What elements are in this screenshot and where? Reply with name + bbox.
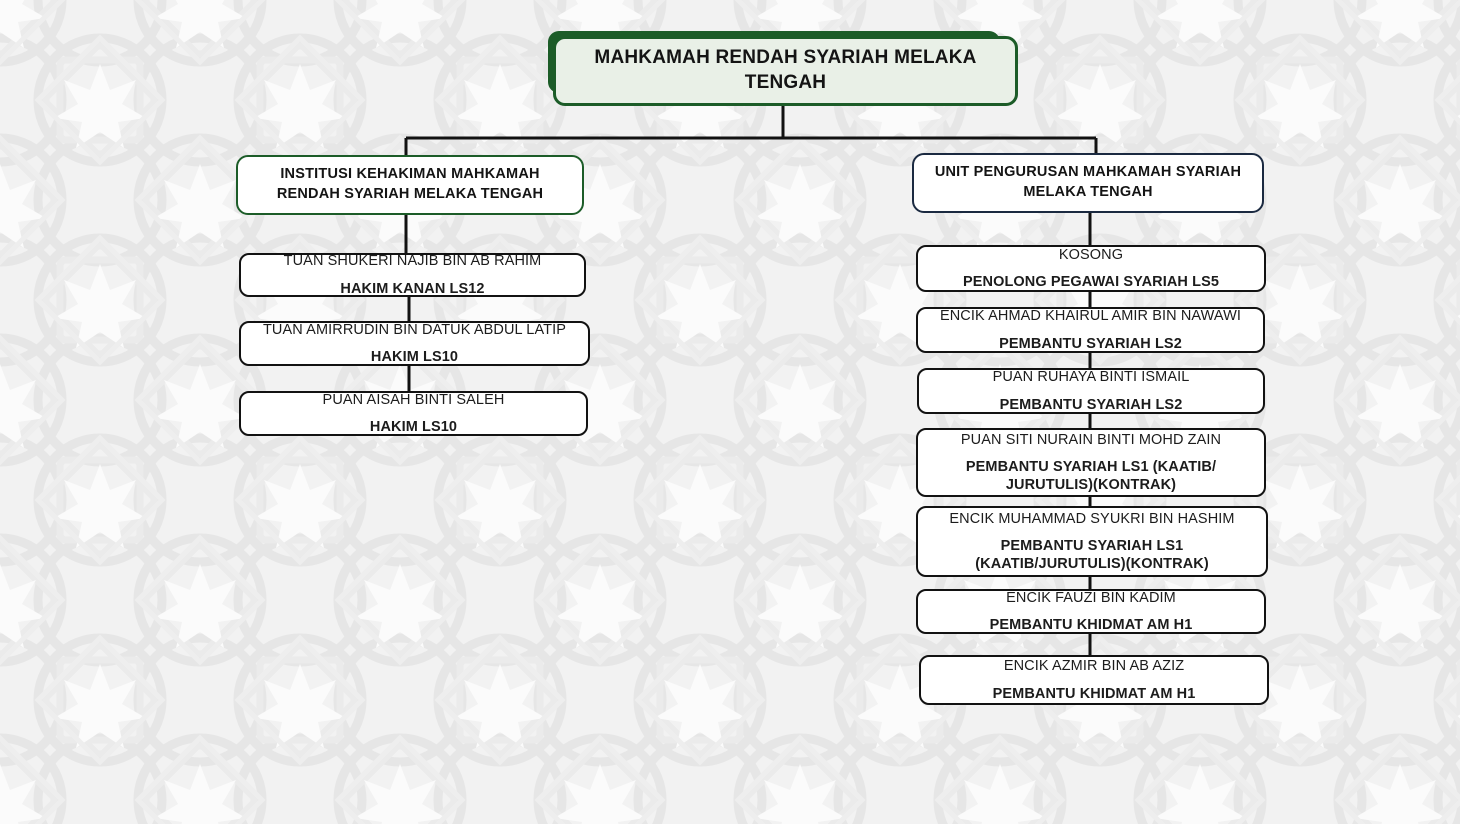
node-right-6[interactable]: ENCIK AZMIR BIN AB AZIZ PEMBANTU KHIDMAT… (919, 655, 1269, 705)
node-right-4[interactable]: ENCIK MUHAMMAD SYUKRI BIN HASHIM PEMBANT… (916, 506, 1268, 577)
org-chart: MAHKAMAH RENDAH SYARIAH MELAKA TENGAH IN… (0, 0, 1460, 824)
node-person: PUAN RUHAYA BINTI ISMAIL (993, 368, 1190, 386)
node-position: PEMBANTU SYARIAH LS2 (999, 335, 1182, 353)
node-right-0[interactable]: KOSONG PENOLONG PEGAWAI SYARIAH LS5 (916, 245, 1266, 292)
node-person: ENCIK AZMIR BIN AB AZIZ (1004, 657, 1184, 675)
branch-left-header[interactable]: INSTITUSI KEHAKIMAN MAHKAMAH RENDAH SYAR… (236, 155, 584, 215)
branch-left-header-title: INSTITUSI KEHAKIMAN MAHKAMAH RENDAH SYAR… (256, 165, 564, 204)
node-position: HAKIM KANAN LS12 (340, 280, 484, 298)
node-person: KOSONG (1059, 246, 1123, 264)
root-node-title: MAHKAMAH RENDAH SYARIAH MELAKA TENGAH (578, 46, 993, 95)
node-position: PENOLONG PEGAWAI SYARIAH LS5 (963, 273, 1219, 291)
node-position: PEMBANTU KHIDMAT AM H1 (990, 616, 1193, 634)
node-left-2[interactable]: PUAN AISAH BINTI SALEH HAKIM LS10 (239, 391, 588, 436)
node-person: PUAN SITI NURAIN BINTI MOHD ZAIN (961, 431, 1221, 449)
node-left-1[interactable]: TUAN AMIRRUDIN BIN DATUK ABDUL LATIP HAK… (239, 321, 590, 366)
branch-right-header[interactable]: UNIT PENGURUSAN MAHKAMAH SYARIAH MELAKA … (912, 153, 1264, 213)
node-position: PEMBANTU KHIDMAT AM H1 (993, 685, 1196, 703)
node-person: ENCIK AHMAD KHAIRUL AMIR BIN NAWAWI (940, 307, 1241, 325)
node-person: PUAN AISAH BINTI SALEH (323, 391, 505, 409)
node-left-0[interactable]: TUAN SHUKERI NAJIB BIN AB RAHIM HAKIM KA… (239, 253, 586, 297)
node-person: TUAN AMIRRUDIN BIN DATUK ABDUL LATIP (263, 321, 566, 339)
node-person: ENCIK FAUZI BIN KADIM (1006, 589, 1176, 607)
node-person: ENCIK MUHAMMAD SYUKRI BIN HASHIM (949, 510, 1234, 528)
node-right-1[interactable]: ENCIK AHMAD KHAIRUL AMIR BIN NAWAWI PEMB… (916, 307, 1265, 353)
node-position: HAKIM LS10 (371, 348, 458, 366)
node-person: TUAN SHUKERI NAJIB BIN AB RAHIM (284, 252, 542, 270)
root-node-front: MAHKAMAH RENDAH SYARIAH MELAKA TENGAH (553, 36, 1018, 106)
node-position: PEMBANTU SYARIAH LS1 (KAATIB/JURUTULIS)(… (975, 537, 1209, 573)
root-node[interactable]: MAHKAMAH RENDAH SYARIAH MELAKA TENGAH (548, 31, 1018, 106)
branch-right-header-title: UNIT PENGURUSAN MAHKAMAH SYARIAH MELAKA … (932, 163, 1244, 202)
node-right-2[interactable]: PUAN RUHAYA BINTI ISMAIL PEMBANTU SYARIA… (917, 368, 1265, 414)
node-position: PEMBANTU SYARIAH LS1 (KAATIB/ JURUTULIS)… (966, 458, 1216, 494)
node-right-5[interactable]: ENCIK FAUZI BIN KADIM PEMBANTU KHIDMAT A… (916, 589, 1266, 634)
node-position: HAKIM LS10 (370, 418, 457, 436)
node-right-3[interactable]: PUAN SITI NURAIN BINTI MOHD ZAIN PEMBANT… (916, 428, 1266, 497)
node-position: PEMBANTU SYARIAH LS2 (1000, 396, 1183, 414)
